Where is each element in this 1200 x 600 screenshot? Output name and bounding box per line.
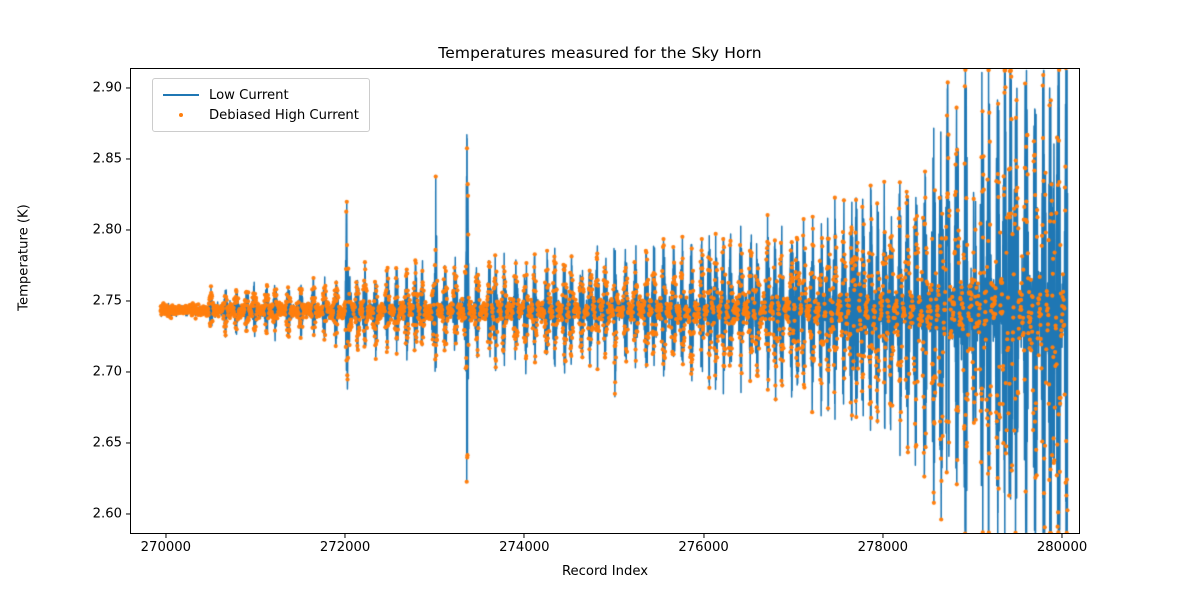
x-axis-tick-labels: 270000272000274000276000278000280000 <box>130 540 1080 562</box>
y-tick-label: 2.70 <box>62 365 122 380</box>
y-tick-mark <box>126 87 130 88</box>
x-axis-tick-marks <box>130 534 1080 540</box>
chart-legend: Low Current Debiased High Current <box>152 78 370 132</box>
x-tick-mark <box>524 534 525 538</box>
figure-canvas: Temperatures measured for the Sky Horn 2… <box>0 0 1200 600</box>
y-tick-label: 2.90 <box>62 80 122 95</box>
y-tick-mark <box>126 158 130 159</box>
y-tick-label: 2.60 <box>62 507 122 522</box>
y-tick-mark <box>126 229 130 230</box>
y-tick-mark <box>126 372 130 373</box>
legend-line-swatch-icon <box>161 88 201 102</box>
y-tick-mark <box>126 300 130 301</box>
y-axis-tick-marks <box>122 68 130 534</box>
x-tick-label: 276000 <box>678 540 728 555</box>
y-tick-label: 2.65 <box>62 436 122 451</box>
y-tick-mark <box>126 514 130 515</box>
legend-label-debiased-high-current: Debiased High Current <box>209 108 359 123</box>
legend-label-low-current: Low Current <box>209 88 289 103</box>
plot-area <box>130 68 1080 534</box>
y-tick-label: 2.80 <box>62 222 122 237</box>
x-tick-label: 278000 <box>858 540 908 555</box>
x-tick-label: 274000 <box>499 540 549 555</box>
y-tick-label: 2.75 <box>62 294 122 309</box>
y-tick-mark <box>126 443 130 444</box>
legend-item-low-current: Low Current <box>161 85 359 105</box>
legend-item-debiased-high-current: Debiased High Current <box>161 105 359 125</box>
y-axis-tick-labels: 2.602.652.702.752.802.852.90 <box>56 68 122 534</box>
y-tick-label: 2.85 <box>62 151 122 166</box>
x-axis-label: Record Index <box>130 564 1080 579</box>
x-tick-mark <box>1062 534 1063 538</box>
legend-dot-swatch-icon <box>161 108 201 122</box>
x-tick-label: 272000 <box>320 540 370 555</box>
y-axis-label: Temperature (K) <box>17 148 32 368</box>
x-tick-mark <box>165 534 166 538</box>
x-tick-label: 270000 <box>141 540 191 555</box>
chart-title: Temperatures measured for the Sky Horn <box>0 44 1200 62</box>
x-tick-label: 280000 <box>1037 540 1087 555</box>
x-tick-mark <box>703 534 704 538</box>
x-tick-mark <box>882 534 883 538</box>
chart-plot-canvas <box>131 69 1080 534</box>
x-tick-mark <box>345 534 346 538</box>
